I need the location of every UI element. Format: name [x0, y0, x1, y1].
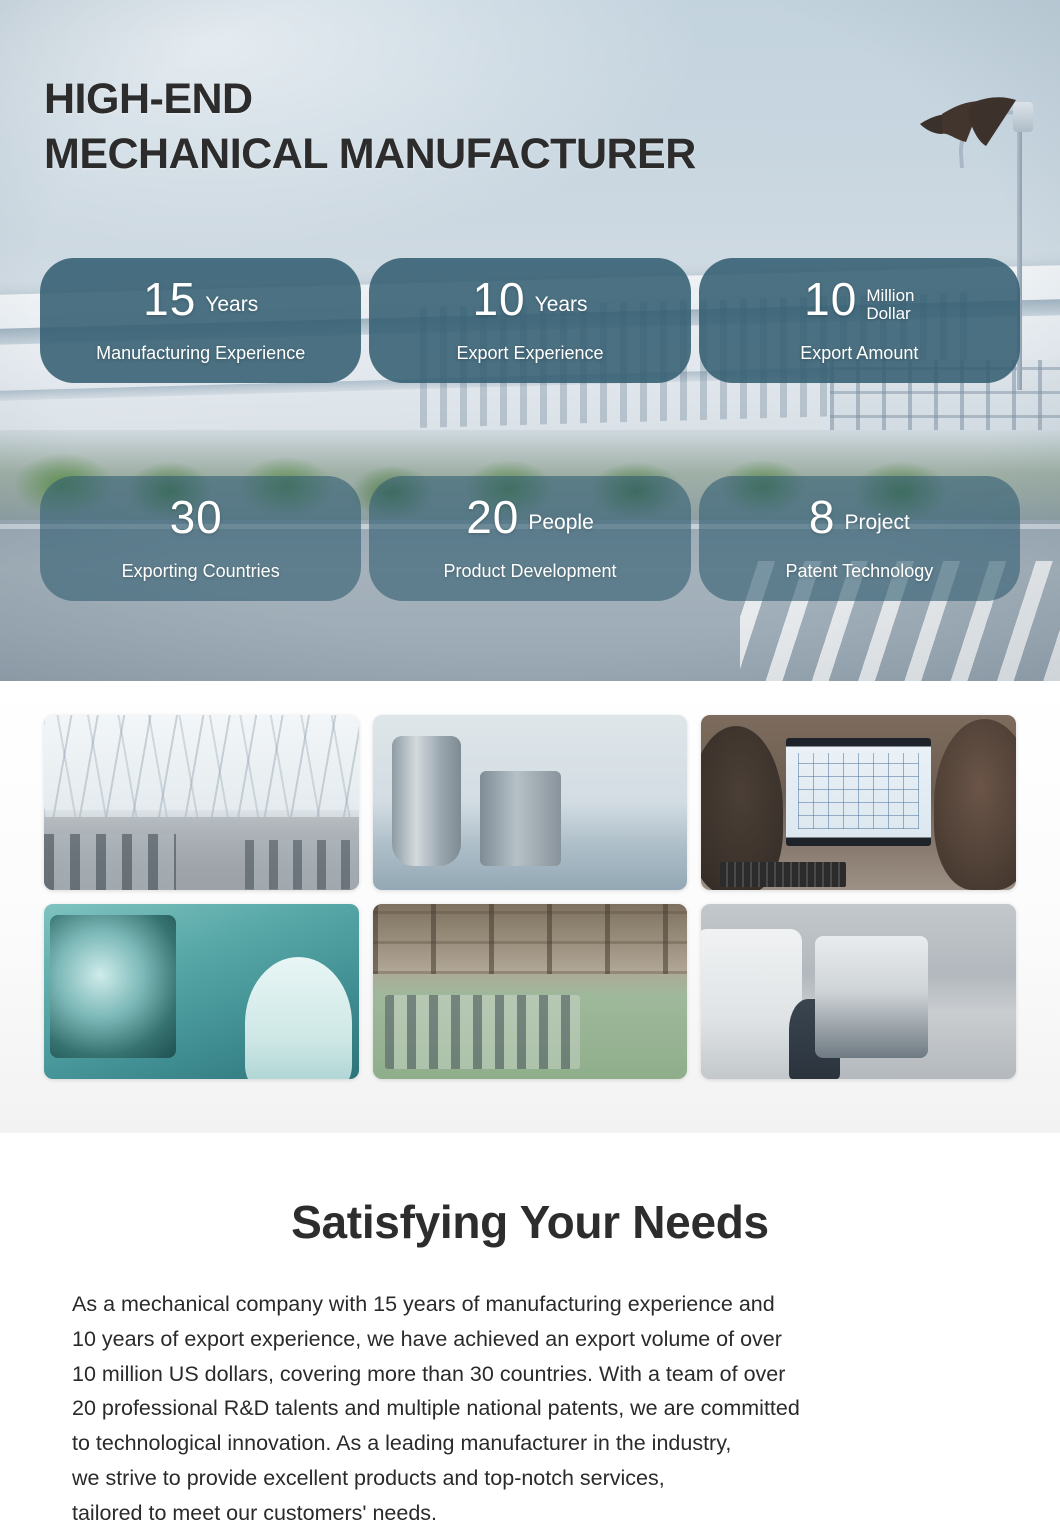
stat-number: 10 — [804, 276, 857, 322]
photo-engineers-reviewing-cad-drawing[interactable] — [701, 715, 1016, 890]
stat-label: Product Development — [379, 561, 680, 582]
stat-card-product-development[interactable]: 20 People Product Development — [369, 476, 690, 601]
stat-number: 30 — [170, 494, 223, 540]
keyboard — [720, 862, 846, 887]
cnc-operator — [789, 999, 839, 1080]
photo-drying-equipment-cleanroom[interactable] — [373, 715, 688, 890]
wing-swoosh-logo-icon — [912, 90, 1022, 156]
section-body-text: As a mechanical company with 15 years of… — [72, 1287, 1002, 1531]
stat-label: Export Amount — [709, 343, 1010, 364]
page-title: HIGH-END MECHANICAL MANUFACTURER — [44, 72, 696, 181]
photo-grid — [44, 715, 1016, 1079]
stat-card-manufacturing-experience[interactable]: 15 Years Manufacturing Experience — [40, 258, 361, 383]
stat-unit: Years — [205, 294, 258, 317]
satisfying-needs-section: Satisfying Your Needs As a mechanical co… — [0, 1133, 1060, 1529]
stat-value-row: 20 People — [379, 494, 680, 552]
stats-grid: 15 Years Manufacturing Experience 10 Yea… — [40, 258, 1020, 601]
stat-card-export-experience[interactable]: 10 Years Export Experience — [369, 258, 690, 383]
stat-value-row: 10 Million Dollar — [709, 276, 1010, 334]
title-line-1: HIGH-END — [44, 72, 696, 127]
photo-factory-workshop-interior[interactable] — [44, 715, 359, 890]
stat-label: Patent Technology — [709, 561, 1010, 582]
stat-unit: Million Dollar — [866, 287, 914, 324]
stat-card-patent-technology[interactable]: 8 Project Patent Technology — [699, 476, 1020, 601]
stat-label: Manufacturing Experience — [50, 343, 351, 364]
hero-banner: HIGH-END MECHANICAL MANUFACTURER 15 Year… — [0, 0, 1060, 681]
stat-number: 8 — [809, 494, 836, 540]
stat-label: Exporting Countries — [50, 561, 351, 582]
section-title: Satisfying Your Needs — [0, 1195, 1060, 1249]
stat-card-export-amount[interactable]: 10 Million Dollar Export Amount — [699, 258, 1020, 383]
stat-value-row: 15 Years — [50, 276, 351, 334]
photo-cnc-machining-workshop[interactable] — [701, 904, 1016, 1079]
stat-card-exporting-countries[interactable]: 30 Exporting Countries — [40, 476, 361, 601]
stat-label: Export Experience — [379, 343, 680, 364]
stat-unit: Years — [535, 294, 588, 317]
title-line-2: MECHANICAL MANUFACTURER — [44, 127, 696, 182]
cad-monitor — [786, 738, 931, 847]
stat-number: 20 — [466, 494, 519, 540]
stat-value-row: 8 Project — [709, 494, 1010, 552]
photo-cleanroom-technician-coating-machine[interactable] — [44, 904, 359, 1079]
stat-number: 15 — [143, 276, 196, 322]
stat-value-row: 10 Years — [379, 276, 680, 334]
stat-value-row: 30 — [50, 494, 351, 552]
engineer-right — [934, 719, 1016, 891]
stat-unit: Project — [844, 512, 909, 535]
photo-production-hall-packaging-lines[interactable] — [373, 904, 688, 1079]
stat-unit: People — [528, 512, 593, 535]
stat-number: 10 — [472, 276, 525, 322]
gallery-section — [0, 681, 1060, 1133]
